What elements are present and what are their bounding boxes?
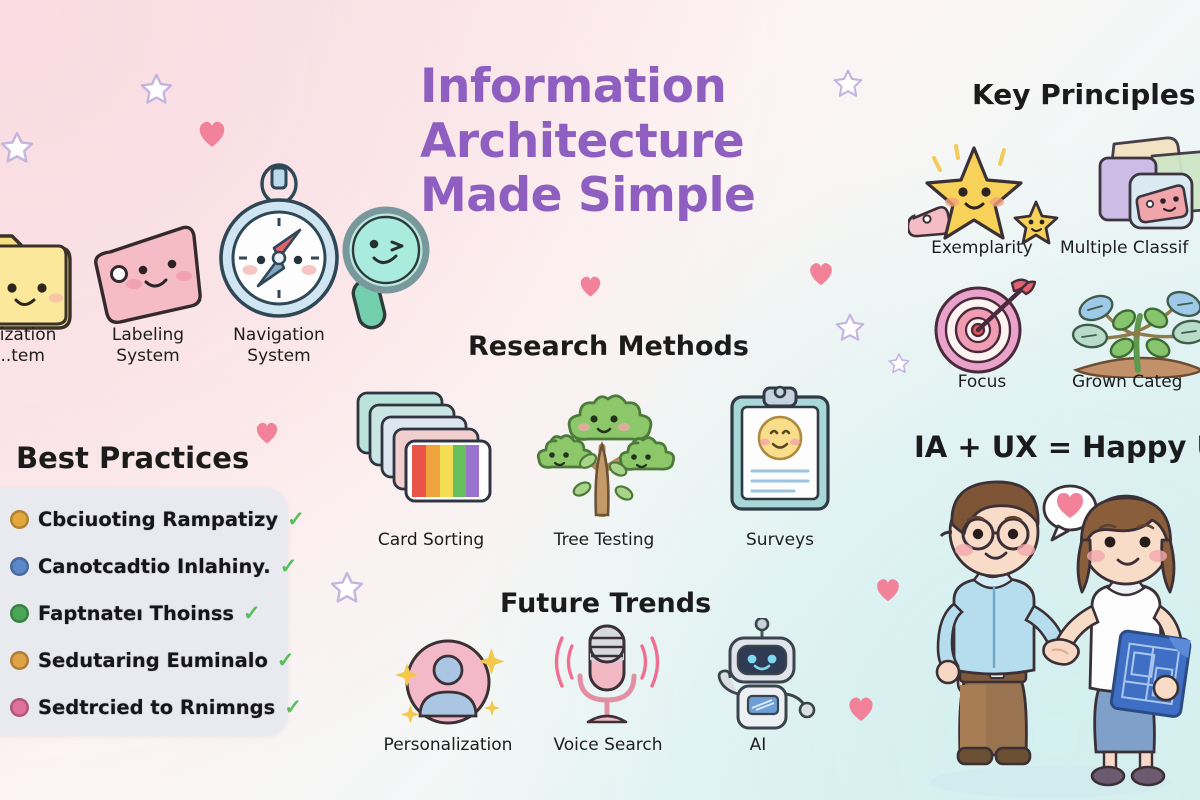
heart-icon bbox=[845, 692, 877, 724]
trend-personalization bbox=[392, 630, 504, 734]
principle-folders bbox=[1056, 134, 1200, 246]
clipboard-icon bbox=[724, 383, 836, 515]
page-title: Information Architecture Made Simple bbox=[420, 60, 800, 224]
best-practice-item[interactable]: Canotcadtio Inlahiny.✓ bbox=[10, 555, 297, 578]
cards-icon bbox=[348, 385, 518, 513]
star-decoration-icon bbox=[330, 570, 364, 609]
avatar-icon bbox=[392, 630, 504, 734]
best-practice-label: Canotcadtio Inlahiny. bbox=[38, 555, 271, 578]
star-decoration-icon bbox=[140, 72, 173, 110]
folders-icon bbox=[1056, 134, 1200, 246]
heart-icon bbox=[873, 574, 903, 604]
best-practice-item[interactable]: Sedtrcied to Rnimngs✓ bbox=[10, 696, 302, 719]
tag-icon bbox=[86, 216, 210, 334]
future-trends-heading: Future Trends bbox=[500, 588, 711, 619]
research-methods-heading: Research Methods bbox=[468, 331, 749, 362]
compass-icon bbox=[216, 162, 342, 328]
microphone-icon bbox=[548, 620, 666, 734]
two-people-handshake-illustration bbox=[900, 470, 1200, 800]
key-principles-heading: Key Principles bbox=[972, 78, 1196, 111]
best-practice-label: Sedutaring Euminalo bbox=[38, 649, 268, 672]
research-tree bbox=[518, 375, 690, 517]
best-practice-item[interactable]: Sedutaring Euminalo✓ bbox=[10, 649, 294, 672]
research-tree-label: Tree Testing bbox=[520, 530, 688, 551]
research-clipboard-label: Surveys bbox=[712, 530, 848, 551]
trend-personalization-label: Personalization bbox=[366, 735, 530, 756]
plant-icon bbox=[1066, 274, 1200, 378]
best-practice-label: Cbciuoting Rampatizy bbox=[38, 508, 278, 531]
bullet-dot-icon bbox=[10, 698, 29, 717]
bullet-dot-icon bbox=[10, 557, 29, 576]
title-line-1: Information bbox=[420, 60, 800, 115]
research-cards-label: Card Sorting bbox=[348, 530, 514, 551]
magnifier-icon bbox=[330, 192, 440, 332]
research-clipboard bbox=[724, 383, 836, 515]
heart-icon bbox=[195, 116, 229, 150]
trend-ai-label: AI bbox=[726, 735, 790, 756]
principle-target-label: Focus bbox=[930, 372, 1034, 393]
check-icon: ✓ bbox=[243, 603, 261, 624]
heart-icon bbox=[806, 258, 836, 288]
ia-system-magnifier bbox=[330, 192, 440, 332]
heart-icon bbox=[253, 418, 281, 446]
best-practice-item[interactable]: Cbciuoting Rampatizy✓ bbox=[10, 508, 305, 531]
heart-icon bbox=[577, 272, 604, 299]
person-right bbox=[1056, 496, 1191, 785]
bullet-dot-icon bbox=[10, 604, 29, 623]
target-icon bbox=[928, 278, 1036, 376]
ia-system-tag-label: Labeling System bbox=[80, 325, 216, 367]
handshake-icon bbox=[1044, 639, 1079, 664]
principle-plant-label: Grown Categ bbox=[1072, 372, 1200, 393]
star-icon bbox=[908, 140, 1060, 250]
star-decoration-icon bbox=[0, 130, 34, 169]
research-cards bbox=[348, 385, 518, 513]
star-decoration-icon bbox=[835, 312, 865, 347]
happy-users-illustration bbox=[900, 470, 1200, 800]
ia-system-tag bbox=[86, 216, 210, 334]
folder-icon bbox=[0, 212, 76, 342]
best-practices-heading: Best Practices bbox=[16, 441, 249, 475]
ia-system-compass bbox=[216, 162, 342, 328]
principle-folders-label: Multiple Classif bbox=[1060, 238, 1200, 259]
robot-icon bbox=[700, 618, 818, 736]
best-practice-label: Faptnateı Thoinss bbox=[38, 602, 234, 625]
bullet-dot-icon bbox=[10, 651, 29, 670]
best-practice-item[interactable]: Faptnateı Thoinss✓ bbox=[10, 602, 261, 625]
best-practice-label: Sedtrcied to Rnimngs bbox=[38, 696, 275, 719]
principle-plant bbox=[1066, 274, 1200, 378]
check-icon: ✓ bbox=[277, 650, 295, 671]
trend-ai bbox=[700, 618, 818, 736]
ia-system-folder bbox=[0, 212, 76, 342]
happy-users-heading: IA + UX = Happy Use bbox=[914, 430, 1200, 464]
principle-target bbox=[928, 278, 1036, 376]
title-line-3: Made Simple bbox=[420, 169, 800, 224]
check-icon: ✓ bbox=[280, 556, 298, 577]
trend-voice bbox=[548, 620, 666, 734]
star-decoration-icon bbox=[888, 352, 910, 379]
bullet-dot-icon bbox=[10, 510, 29, 529]
tree-icon bbox=[518, 375, 690, 517]
star-decoration-icon bbox=[833, 68, 863, 103]
principle-star bbox=[908, 140, 1060, 250]
trend-voice-label: Voice Search bbox=[532, 735, 684, 756]
person-left bbox=[937, 482, 1064, 764]
check-icon: ✓ bbox=[284, 697, 302, 718]
poster-canvas: Information Architecture Made Simple ...… bbox=[0, 0, 1200, 800]
check-icon: ✓ bbox=[287, 509, 305, 530]
title-line-2: Architecture bbox=[420, 115, 800, 170]
principle-star-label: Exemplarity bbox=[906, 238, 1058, 259]
